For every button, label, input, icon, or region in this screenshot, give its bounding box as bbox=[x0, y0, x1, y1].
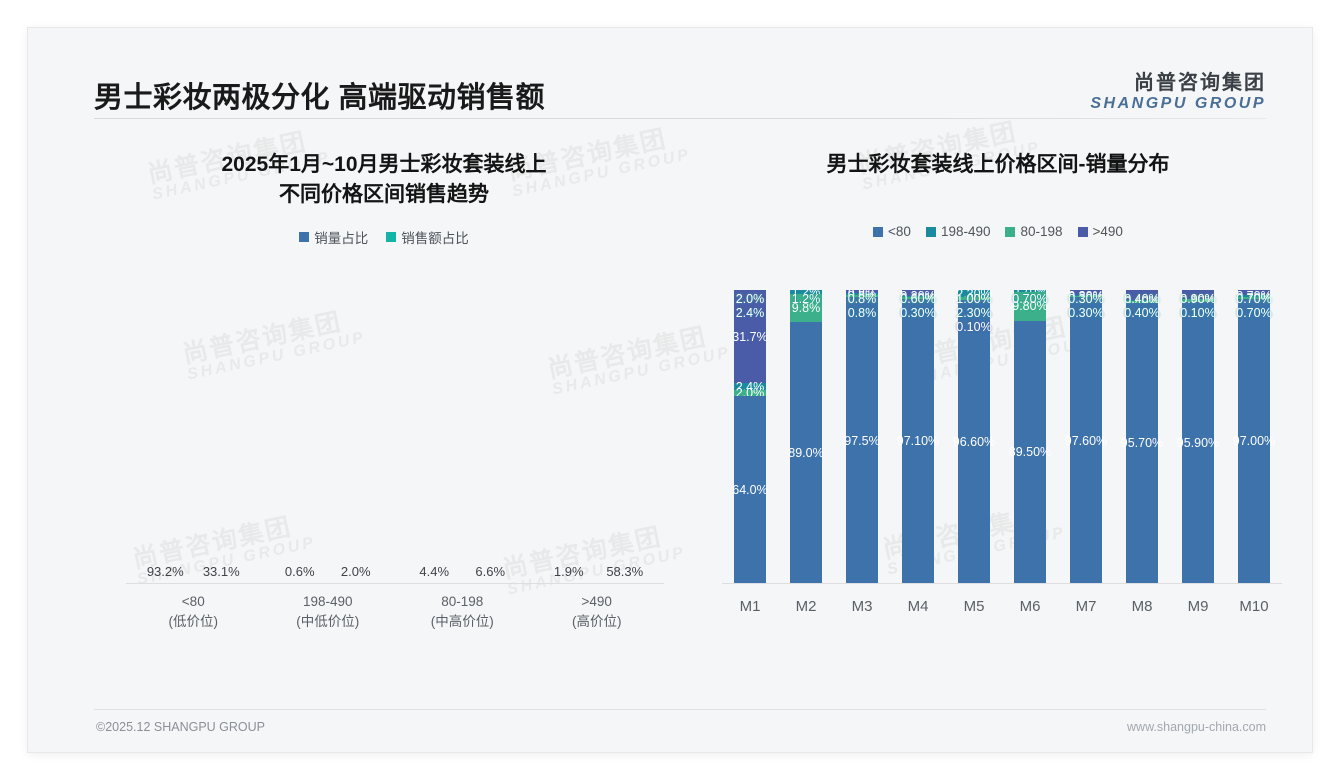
stack-small-segment-label: 0.8% bbox=[848, 292, 877, 306]
x-axis-label-1: <80(低价位) bbox=[126, 586, 261, 636]
x-axis-label-M5: M5 bbox=[946, 586, 1002, 636]
stack-small-segment-label: 2.4% bbox=[736, 306, 765, 320]
stacked-bar-M10[interactable]: 0.70%0.70%97.00%0.70%0.70% bbox=[1238, 290, 1269, 584]
stack-segment-<80[interactable]: 95.90% bbox=[1182, 302, 1213, 584]
bar-group-1: 93.2%33.1% bbox=[126, 290, 261, 584]
left-chart-plot-area: 93.2%33.1%0.6%2.0%4.4%6.6%1.9%58.3% bbox=[126, 290, 664, 584]
x-axis-label-range: >490 bbox=[530, 592, 665, 612]
slide-canvas: 尚普咨询集团SHANGPU GROUP 尚普咨询集团SHANGPU GROUP … bbox=[28, 28, 1312, 752]
x-axis-label-M6: M6 bbox=[1002, 586, 1058, 636]
stack-small-segment-label: 0.40% bbox=[1124, 292, 1159, 306]
stack-segment-label: 97.5% bbox=[844, 434, 879, 448]
stack-segment-label: 31.7% bbox=[732, 330, 767, 344]
x-axis-label-3: 80-198(中高价位) bbox=[395, 586, 530, 636]
footer-divider bbox=[94, 709, 1266, 710]
stack-small-segment-label: 0.30% bbox=[900, 306, 935, 320]
logo-cn-text: 尚普咨询集团 bbox=[1090, 72, 1266, 94]
legend-item-2[interactable]: 198-490 bbox=[926, 224, 991, 239]
bar-group-2: 0.6%2.0% bbox=[261, 290, 396, 584]
left-chart-legend: 销量占比销售额占比 bbox=[80, 227, 688, 247]
stack-segment-<80[interactable]: 64.0% bbox=[734, 396, 765, 584]
stacked-bar-M4[interactable]: 0.30%0.60%97.10%0.60%0.30% bbox=[902, 290, 933, 584]
right-chart-plot-area: 31.7%2.4%2.0%64.0%2.0%2.4%1.2%9.8%89.0%1… bbox=[722, 290, 1282, 584]
stacked-bar-M7[interactable]: 0.30%0.30%97.60%0.30%0.30% bbox=[1070, 290, 1101, 584]
x-axis-label-range: 198-490 bbox=[261, 592, 396, 612]
x-axis-label-tier: (高价位) bbox=[530, 612, 665, 632]
x-axis-label-2: 198-490(中低价位) bbox=[261, 586, 396, 636]
stack-small-segment-label: 0.8% bbox=[848, 306, 877, 320]
stack-segment-label: 97.60% bbox=[1065, 434, 1107, 448]
stacked-bar-M2[interactable]: 1.2%9.8%89.0%1.2% bbox=[790, 290, 821, 584]
x-axis-label-range: <80 bbox=[126, 592, 261, 612]
stack-small-segment-label: 2.0% bbox=[736, 292, 765, 306]
bar-value-label: 1.9% bbox=[554, 564, 584, 579]
left-chart-title-line2: 不同价格区间销售趋势 bbox=[90, 180, 678, 210]
bar-value-label: 33.1% bbox=[203, 564, 240, 579]
stack-segment-<80[interactable]: 97.00% bbox=[1238, 299, 1269, 584]
x-axis-label-M2: M2 bbox=[778, 586, 834, 636]
stacked-bar-M8[interactable]: 0.40%0.40%95.70%0.40%0.40% bbox=[1126, 290, 1157, 584]
stack-segment-label: 95.90% bbox=[1177, 436, 1219, 450]
legend-label: 80-198 bbox=[1020, 224, 1062, 239]
header-divider bbox=[94, 118, 1266, 119]
stack-segment-<80[interactable]: 97.10% bbox=[902, 299, 933, 584]
stacked-bar-M3[interactable]: 0.8%0.8%97.5%0.8%0.8% bbox=[846, 290, 877, 584]
legend-item-1[interactable]: <80 bbox=[873, 224, 911, 239]
x-axis-label-M10: M10 bbox=[1226, 586, 1282, 636]
stack-small-segment-label: 1.2% bbox=[792, 292, 821, 306]
left-chart-title: 2025年1月~10月男士彩妆套装线上 不同价格区间销售趋势 bbox=[80, 138, 688, 211]
stack-small-segment-label: 0.60% bbox=[900, 292, 935, 306]
legend-label: <80 bbox=[888, 224, 911, 239]
stack-small-segment-label: 0.30% bbox=[1068, 306, 1103, 320]
page-title: 男士彩妆两极分化 高端驱动销售额 bbox=[94, 74, 545, 116]
stack-small-segment-label: 0.40% bbox=[1124, 306, 1159, 320]
legend-swatch-icon bbox=[299, 232, 309, 242]
bar-value-label: 4.4% bbox=[419, 564, 449, 579]
stack-segment-<80[interactable]: 89.0% bbox=[790, 322, 821, 584]
stack-segment-label: 89.0% bbox=[788, 446, 823, 460]
stack-segment-label: 89.50% bbox=[1009, 445, 1051, 459]
bar-value-label: 93.2% bbox=[147, 564, 184, 579]
logo-en-text: SHANGPU GROUP bbox=[1090, 95, 1266, 113]
stack-small-segment-label: 0.70% bbox=[1236, 292, 1271, 306]
bar-group-3: 4.4%6.6% bbox=[395, 290, 530, 584]
right-chart-title: 男士彩妆套装线上价格区间-销量分布 bbox=[700, 138, 1296, 180]
x-axis-label-4: >490(高价位) bbox=[530, 586, 665, 636]
left-chart-panel: 2025年1月~10月男士彩妆套装线上 不同价格区间销售趋势 销量占比销售额占比… bbox=[80, 138, 688, 708]
legend-label: 销量占比 bbox=[314, 227, 368, 247]
bar-value-label: 6.6% bbox=[475, 564, 505, 579]
stacked-bar-M9[interactable]: 0.10%0.90%95.90%0.90%0.10% bbox=[1182, 290, 1213, 584]
stack-segment-label: 97.10% bbox=[897, 434, 939, 448]
stack-segment-label: 95.70% bbox=[1121, 436, 1163, 450]
x-axis-label-tier: (中高价位) bbox=[395, 612, 530, 632]
left-chart-title-line1: 2025年1月~10月男士彩妆套装线上 bbox=[90, 150, 678, 180]
x-axis-label-M7: M7 bbox=[1058, 586, 1114, 636]
stack-small-segment-label: 0.90% bbox=[1180, 292, 1215, 306]
right-chart-legend: <80198-49080-198>490 bbox=[700, 224, 1296, 239]
x-axis-label-range: 80-198 bbox=[395, 592, 530, 612]
x-axis-label-tier: (低价位) bbox=[126, 612, 261, 632]
x-axis-label-M4: M4 bbox=[890, 586, 946, 636]
stack-segment-label: 96.60% bbox=[953, 435, 995, 449]
stack-small-segment-label: 0.70% bbox=[1012, 292, 1047, 306]
x-axis-label-M8: M8 bbox=[1114, 586, 1170, 636]
slide-header: 男士彩妆两极分化 高端驱动销售额 尚普咨询集团 SHANGPU GROUP bbox=[28, 28, 1312, 120]
legend-item-3[interactable]: 80-198 bbox=[1005, 224, 1062, 239]
stack-small-segment-label: 0.10% bbox=[956, 320, 991, 334]
right-chart-panel: 男士彩妆套装线上价格区间-销量分布 <80198-49080-198>490 3… bbox=[700, 138, 1296, 708]
x-axis-label-tier: (中低价位) bbox=[261, 612, 396, 632]
x-axis-label-M9: M9 bbox=[1170, 586, 1226, 636]
left-grouped-bar-chart: 93.2%33.1%0.6%2.0%4.4%6.6%1.9%58.3% <80(… bbox=[126, 290, 664, 636]
stacked-bar-M6[interactable]: 0.70%9.80%89.50%0.70% bbox=[1014, 290, 1045, 584]
stacked-bar-M5[interactable]: 0.10%2.30%1.00%96.60%1.00%2.30%0.10% bbox=[958, 290, 989, 584]
stack-small-segment-label: 2.30% bbox=[956, 306, 991, 320]
legend-swatch-icon bbox=[386, 232, 396, 242]
brand-logo: 尚普咨询集团 SHANGPU GROUP bbox=[1090, 72, 1266, 113]
legend-swatch-icon bbox=[1005, 227, 1015, 237]
legend-swatch-icon bbox=[1078, 227, 1088, 237]
bar-value-label: 58.3% bbox=[606, 564, 643, 579]
bar-value-label: 0.6% bbox=[285, 564, 315, 579]
legend-label: 198-490 bbox=[941, 224, 991, 239]
stacked-bar-M1[interactable]: 31.7%2.4%2.0%64.0%2.0%2.4% bbox=[734, 290, 765, 584]
stack-segment-<80[interactable]: 89.50% bbox=[1014, 321, 1045, 584]
legend-swatch-icon bbox=[926, 227, 936, 237]
legend-swatch-icon bbox=[873, 227, 883, 237]
stack-segment-<80[interactable]: 95.70% bbox=[1126, 303, 1157, 584]
stack-small-segment-label: 0.70% bbox=[1236, 306, 1271, 320]
stack-segment-label: 64.0% bbox=[732, 483, 767, 497]
legend-item-1[interactable]: 销量占比 bbox=[299, 227, 368, 247]
right-chart-x-axis bbox=[722, 583, 1282, 584]
legend-item-4[interactable]: >490 bbox=[1078, 224, 1123, 239]
bar-value-label: 2.0% bbox=[341, 564, 371, 579]
left-chart-x-axis bbox=[126, 583, 664, 584]
bar-group-4: 1.9%58.3% bbox=[530, 290, 665, 584]
stack-small-segment-label: 0.30% bbox=[1068, 292, 1103, 306]
legend-item-2[interactable]: 销售额占比 bbox=[386, 227, 469, 247]
right-stacked-bar-chart: 31.7%2.4%2.0%64.0%2.0%2.4%1.2%9.8%89.0%1… bbox=[722, 290, 1282, 636]
legend-label: >490 bbox=[1093, 224, 1123, 239]
stack-small-segment-label: 1.00% bbox=[956, 292, 991, 306]
x-axis-label-M3: M3 bbox=[834, 586, 890, 636]
stack-small-segment-label: 0.10% bbox=[1180, 306, 1215, 320]
footer-website: www.shangpu-china.com bbox=[1127, 720, 1266, 734]
stack-segment-label: 97.00% bbox=[1233, 434, 1275, 448]
legend-label: 销售额占比 bbox=[401, 227, 469, 247]
x-axis-label-M1: M1 bbox=[722, 586, 778, 636]
stack-segment-<80[interactable]: 97.60% bbox=[1070, 297, 1101, 584]
stack-segment-<80[interactable]: 96.60% bbox=[958, 300, 989, 584]
footer-copyright: ©2025.12 SHANGPU GROUP bbox=[96, 720, 265, 734]
stack-segment-<80[interactable]: 97.5% bbox=[846, 297, 877, 584]
